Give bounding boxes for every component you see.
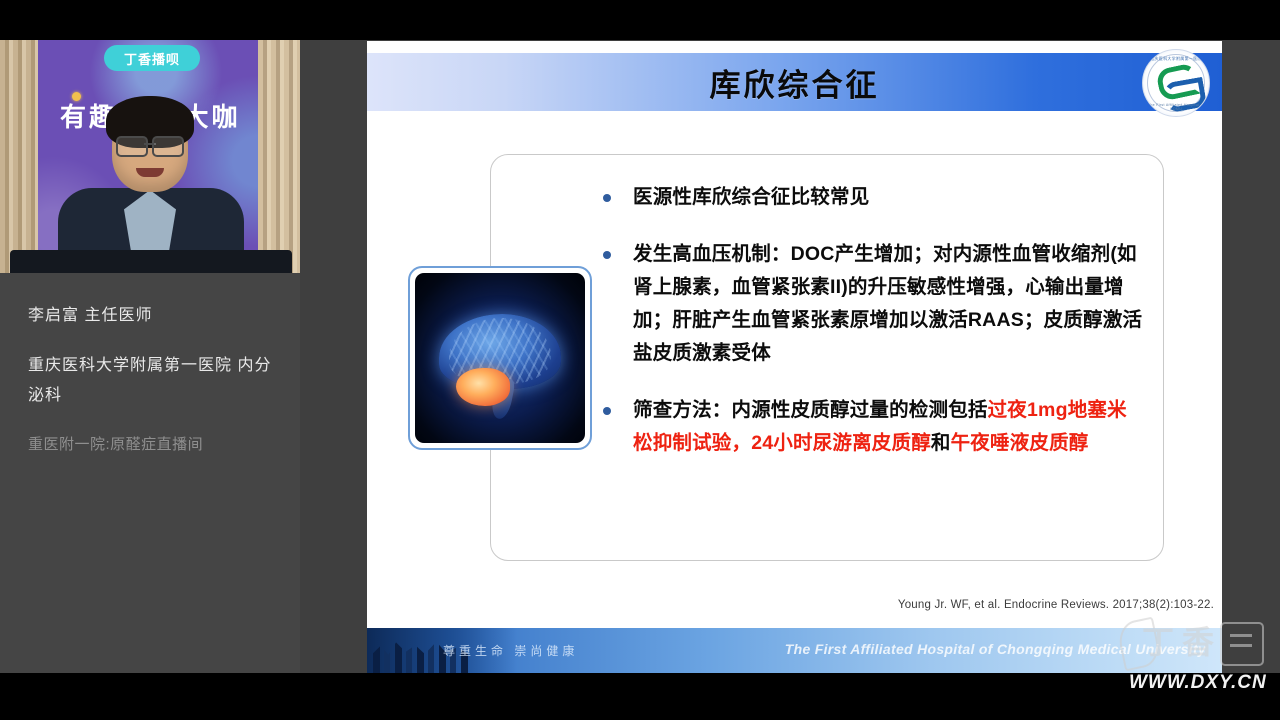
speaker-name: 李启富 主任医师 <box>28 301 152 325</box>
bottom-letterbox <box>0 673 1280 720</box>
curtain-right <box>258 40 300 273</box>
glasses-icon <box>116 136 184 153</box>
speaker-affiliation: 重庆医科大学附属第一医院 内分泌科 <box>28 351 280 411</box>
watermark-url: WWW.DXY.CN <box>1129 672 1279 694</box>
dxy-watermark-icon: 丁 香 <box>1120 618 1270 666</box>
channel-badge: 丁香播呗 <box>104 45 200 71</box>
logo-bottom-text: The First Affiliated Hospital of CQMU <box>1143 103 1209 111</box>
bullet-item: 医源性库欣综合征比较常见 <box>595 181 1143 214</box>
live-room-name: 重医附一院:原醛症直播间 <box>28 433 203 454</box>
brain-image-frame <box>408 266 592 450</box>
desk-device <box>10 250 292 273</box>
slide-title: 库欣综合征 <box>367 53 1222 111</box>
bullet-text-segment: 午夜唾液皮质醇 <box>951 432 1089 454</box>
bullet-text-segment: 筛查方法：内源性皮质醇过量的检测包括 <box>633 399 988 421</box>
logo-top-text: 重庆医科大学附属第一医院 <box>1143 56 1209 62</box>
curtain-left <box>0 40 38 273</box>
bullet-item: 筛查方法：内源性皮质醇过量的检测包括过夜1mg地塞米松抑制试验，24小时尿游离皮… <box>595 394 1143 460</box>
highlighted-region-shape <box>456 368 510 405</box>
speaker-info-panel: 李启富 主任医师 重庆医科大学附属第一医院 内分泌科 重医附一院:原醛症直播间 <box>0 273 300 673</box>
bullet-text-segment: 发生高血压机制：DOC产生增加；对内源性血管收缩剂(如肾上腺素，血管紧张素II)… <box>633 243 1142 364</box>
hospital-logo-icon: 重庆医科大学附属第一医院 The First Affiliated Hospit… <box>1142 49 1210 117</box>
slide-top-margin <box>367 41 1222 53</box>
presenter-video[interactable]: 丁香播呗 有趣 大咖 <box>0 40 300 273</box>
slide-footer: 尊重生命 崇尚健康 The First Affiliated Hospital … <box>367 628 1222 673</box>
presentation-slide[interactable]: 库欣综合征 重庆医科大学附属第一医院 The First Affiliated … <box>367 41 1222 673</box>
brain-image <box>415 273 585 443</box>
footer-slogan-cn: 尊重生命 崇尚健康 <box>443 642 578 659</box>
watermark-char-1: 丁 <box>1142 622 1174 662</box>
slide-title-band: 库欣综合征 <box>367 53 1222 111</box>
screen: 丁香播呗 有趣 大咖 李启富 主任医师 重庆医科大学附属第一医院 内分泌科 重医… <box>0 0 1280 720</box>
watermark-char-2: 香 <box>1182 622 1214 662</box>
citation: Young Jr. WF, et al. Endocrine Reviews. … <box>898 599 1214 611</box>
bullet-text-segment: 医源性库欣综合征比较常见 <box>633 186 869 208</box>
bullet-list: 医源性库欣综合征比较常见发生高血压机制：DOC产生增加；对内源性血管收缩剂(如肾… <box>595 181 1143 484</box>
bullet-text-segment: 和 <box>931 432 951 454</box>
bullet-item: 发生高血压机制：DOC产生增加；对内源性血管收缩剂(如肾上腺素，血管紧张素II)… <box>595 238 1143 370</box>
